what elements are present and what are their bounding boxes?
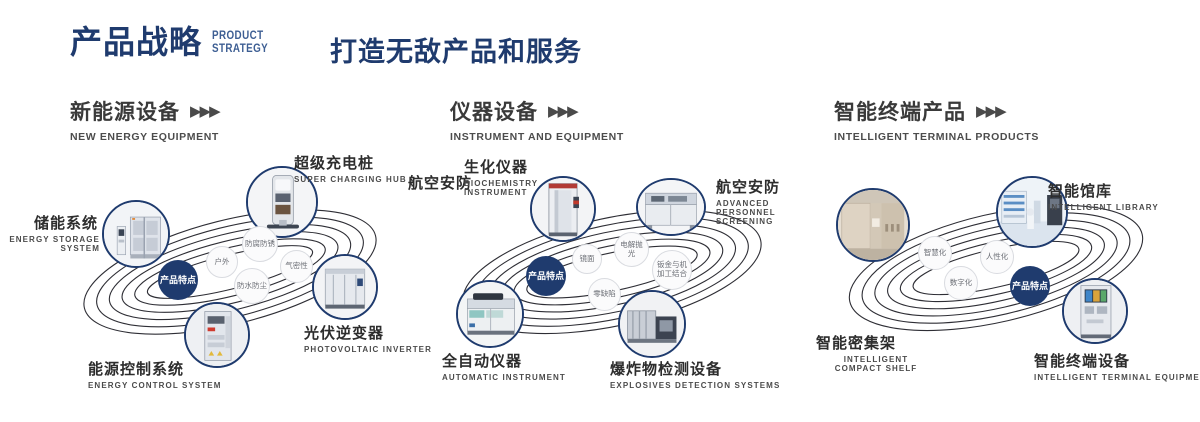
photo-explosives-detector[interactable] <box>618 290 686 358</box>
poster-header: 产品战略 PRODUCT STRATEGY <box>70 26 280 58</box>
section-title-en: NEW ENERGY EQUIPMENT <box>70 131 219 143</box>
feature-bubble-outdoor[interactable]: 户外 <box>206 246 238 278</box>
page-title-en-line1: PRODUCT <box>212 29 268 42</box>
label-cn: 全自动仪器 <box>442 350 566 371</box>
feature-bubble-label: 防腐防锈 <box>245 240 275 249</box>
feature-bubble-label: 户外 <box>215 258 230 267</box>
page-slogan: 打造无敌产品和服务 <box>330 30 582 69</box>
photo-automatic-instrument[interactable] <box>456 280 524 348</box>
page-title: 产品战略 <box>70 26 202 58</box>
label-automatic-instrument: 全自动仪器 AUTOMATIC INSTRUMENT <box>442 350 566 382</box>
core-bubble-label: 产品特点 <box>160 275 196 286</box>
section-title-cn: 仪器设备 <box>450 96 538 126</box>
core-bubble-label: 产品特点 <box>1012 281 1048 292</box>
poster-canvas: 产品战略 PRODUCT STRATEGY 打造无敌产品和服务 新能源设备 ▶▶… <box>0 0 1200 422</box>
label-advanced-personnel-screening: 航空安防 ADVANCED PERSONNEL SCREENING <box>716 176 812 226</box>
label-cn: 智能密集架 <box>816 332 936 353</box>
label-en: SUPER CHARGING HUB <box>294 175 407 184</box>
photo-energy-storage-cabinet[interactable] <box>102 200 170 268</box>
label-cn: 超级充电桩 <box>294 152 407 173</box>
label-en: INTELLIGENT COMPACT SHELF <box>821 355 931 373</box>
feature-bubble-label: 数字化 <box>950 279 973 288</box>
section-title-intelligent: 智能终端产品 ▶▶▶ INTELLIGENT TERMINAL PRODUCTS <box>834 96 1039 143</box>
self-service-kiosk-icon <box>1064 280 1126 342</box>
feature-bubble-label: 钣金与机加工结合 <box>655 261 689 278</box>
feature-bubble-intelligentization[interactable]: 智慧化 <box>918 236 952 270</box>
photo-self-service-kiosk[interactable] <box>1062 278 1128 344</box>
label-cn: 生化仪器 <box>464 156 549 177</box>
cluster-new-energy-equipment: 产品特点 户外 防腐防锈 防水防尘 气密性 储能系统 ENERGY STORAG… <box>40 150 420 400</box>
label-cn: 光伏逆变器 <box>304 322 432 343</box>
label-cn: 航空安防 <box>716 176 812 197</box>
chevron-right-icon: ▶▶▶ <box>548 102 577 120</box>
core-bubble-label: 产品特点 <box>528 271 564 282</box>
label-en: ENERGY STORAGE SYSTEM <box>0 235 100 253</box>
label-cn: 储能系统 <box>0 212 98 233</box>
feature-bubble-sheetmetal-machining[interactable]: 钣金与机加工结合 <box>652 250 692 290</box>
cluster-intelligent-terminal-products: 产品特点 智慧化 数字化 人性化 智能馆库 INTELLIGENT LIBRAR… <box>810 150 1200 400</box>
feature-bubble-label: 人性化 <box>986 253 1009 262</box>
label-en: ENERGY CONTROL SYSTEM <box>88 381 222 390</box>
label-energy-control-system: 能源控制系统 ENERGY CONTROL SYSTEM <box>88 358 222 390</box>
label-aviation-security: 航空安防 <box>408 172 472 193</box>
feature-bubble-label: 镜面 <box>580 255 595 264</box>
screening-machine-icon <box>638 180 704 235</box>
inverter-cabinet-icon <box>314 256 376 318</box>
feature-bubble-electropolish[interactable]: 电解抛光 <box>614 232 649 267</box>
page-title-en-line2: STRATEGY <box>212 42 268 55</box>
label-cn: 能源控制系统 <box>88 358 222 379</box>
section-title-new-energy: 新能源设备 ▶▶▶ NEW ENERGY EQUIPMENT <box>70 96 219 143</box>
compact-shelf-icon <box>838 190 908 260</box>
label-en: EXPLOSIVES DETECTION SYSTEMS <box>610 381 780 390</box>
section-title-cn: 新能源设备 <box>70 96 180 126</box>
label-energy-storage-system: 储能系统 ENERGY STORAGE SYSTEM <box>0 212 98 253</box>
feature-bubble-anticorrosion[interactable]: 防腐防锈 <box>242 226 278 262</box>
section-title-en: INTELLIGENT TERMINAL PRODUCTS <box>834 131 1039 143</box>
chevron-right-icon: ▶▶▶ <box>190 102 219 120</box>
photo-compact-shelf[interactable] <box>836 188 910 262</box>
section-title-en: INSTRUMENT AND EQUIPMENT <box>450 131 624 143</box>
chevron-right-icon: ▶▶▶ <box>976 102 1005 120</box>
feature-bubble-waterproof[interactable]: 防水防尘 <box>234 268 270 304</box>
label-en: BIOCHEMISTRY INSTRUMENT <box>464 179 549 197</box>
feature-bubble-mirror[interactable]: 镜面 <box>572 244 602 274</box>
label-intelligent-compact-shelf: 智能密集架 INTELLIGENT COMPACT SHELF <box>816 332 936 373</box>
feature-bubble-digitalization[interactable]: 数字化 <box>944 266 978 300</box>
feature-bubble-zero-defect[interactable]: 零缺陷 <box>588 278 621 311</box>
label-photovoltaic-inverter: 光伏逆变器 PHOTOVOLTAIC INVERTER <box>304 322 432 354</box>
feature-bubble-label: 智慧化 <box>924 249 947 258</box>
label-en: INTELLIGENT LIBRARY <box>1048 203 1159 212</box>
energy-storage-cabinet-icon <box>104 202 168 266</box>
label-super-charging-hub: 超级充电桩 SUPER CHARGING HUB <box>294 152 407 184</box>
section-title-cn: 智能终端产品 <box>834 96 966 126</box>
feature-bubble-label: 电解抛光 <box>617 241 646 258</box>
photo-screening-machine[interactable] <box>636 178 706 236</box>
automatic-instrument-icon <box>458 282 522 346</box>
core-bubble-product-feature[interactable]: 产品特点 <box>158 260 198 300</box>
core-bubble-product-feature[interactable]: 产品特点 <box>526 256 566 296</box>
cluster-instrument-and-equipment: 产品特点 镜面 电解抛光 钣金与机加工结合 零缺陷 航空安防 生化仪器 BIOC… <box>420 150 810 400</box>
explosives-detector-icon <box>620 292 684 356</box>
label-en: PHOTOVOLTAIC INVERTER <box>304 345 432 354</box>
label-biochemistry-instrument: 生化仪器 BIOCHEMISTRY INSTRUMENT <box>464 156 549 197</box>
label-cn: 爆炸物检测设备 <box>610 358 780 379</box>
label-en: ADVANCED PERSONNEL SCREENING <box>716 199 812 226</box>
feature-bubble-airtight[interactable]: 气密性 <box>280 250 313 283</box>
feature-bubble-label: 零缺陷 <box>593 290 616 299</box>
label-en: AUTOMATIC INSTRUMENT <box>442 373 566 382</box>
label-intelligent-library: 智能馆库 INTELLIGENT LIBRARY <box>1048 180 1159 212</box>
core-bubble-product-feature[interactable]: 产品特点 <box>1010 266 1050 306</box>
label-cn: 智能终端设备 <box>1034 350 1200 371</box>
page-title-en: PRODUCT STRATEGY <box>212 29 268 54</box>
label-en: INTELLIGENT TERMINAL EQUIPMENT <box>1034 373 1200 382</box>
label-intelligent-terminal-equipment: 智能终端设备 INTELLIGENT TERMINAL EQUIPMENT <box>1034 350 1200 382</box>
label-explosives-detection-systems: 爆炸物检测设备 EXPLOSIVES DETECTION SYSTEMS <box>610 358 780 390</box>
section-title-instrument: 仪器设备 ▶▶▶ INSTRUMENT AND EQUIPMENT <box>450 96 624 143</box>
label-cn: 航空安防 <box>408 172 472 193</box>
feature-bubble-label: 防水防尘 <box>237 282 267 291</box>
label-cn: 智能馆库 <box>1048 180 1159 201</box>
control-cabinet-icon <box>186 304 248 366</box>
feature-bubble-humanization[interactable]: 人性化 <box>980 240 1014 274</box>
feature-bubble-label: 气密性 <box>285 262 308 271</box>
photo-inverter-cabinet[interactable] <box>312 254 378 320</box>
